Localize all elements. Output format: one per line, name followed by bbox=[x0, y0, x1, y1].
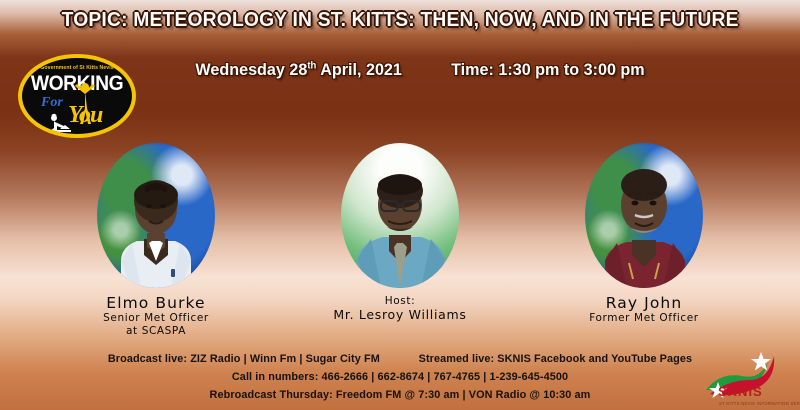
event-poster: TOPIC: METEOROLOGY IN ST. KITTS: THEN, N… bbox=[0, 0, 800, 410]
poster-title-text: TOPIC: METEOROLOGY IN ST. KITTS: THEN, N… bbox=[61, 8, 738, 32]
event-datetime: Wednesday 28th April, 2021 Time: 1:30 pm… bbox=[150, 60, 690, 80]
panelist-row: Elmo Burke Senior Met Officer at SCASPA bbox=[0, 143, 800, 338]
event-date-suffix: April, 2021 bbox=[317, 60, 403, 79]
host-label: Host: bbox=[385, 295, 415, 307]
event-date-prefix: Wednesday 28 bbox=[196, 60, 308, 79]
sknis-logo: SKNIS ST KITTS NEVIS INFORMATION SERVICE bbox=[698, 346, 794, 408]
construction-worker-icon bbox=[46, 112, 72, 132]
panelist-elmo-burke: Elmo Burke Senior Met Officer at SCASPA bbox=[34, 143, 278, 338]
streamed-live-text: Streamed live: SKNIS Facebook and YouTub… bbox=[419, 353, 693, 365]
portrait-lesroy-williams bbox=[341, 143, 459, 288]
portrait-ray-john bbox=[585, 143, 703, 288]
host-name: Mr. Lesroy Williams bbox=[333, 307, 466, 322]
panelist-role-line1: Former Met Officer bbox=[589, 312, 698, 325]
rebroadcast-text: Rebroadcast Thursday: Freedom FM @ 7:30 … bbox=[12, 386, 788, 404]
footer-broadcast-row: Broadcast live: ZIZ Radio | Winn Fm | Su… bbox=[12, 350, 788, 368]
panelist-photo bbox=[585, 143, 703, 288]
sknis-tagline: ST KITTS NEVIS INFORMATION SERVICE bbox=[719, 401, 800, 406]
event-time: Time: 1:30 pm to 3:00 pm bbox=[451, 60, 645, 80]
broadcast-live-text: Broadcast live: ZIZ Radio | Winn Fm | Su… bbox=[108, 353, 380, 365]
panelist-role-line2: at SCASPA bbox=[126, 325, 186, 338]
working-for-you-logo: Government of St Kitts Nevis WORKING For… bbox=[18, 54, 136, 138]
panelist-name: Ray John bbox=[606, 295, 683, 312]
panelist-role-line1: Senior Met Officer bbox=[103, 312, 209, 325]
call-in-numbers-text: Call in numbers: 466-2666 | 662-8674 | 7… bbox=[12, 368, 788, 386]
event-date: Wednesday 28th April, 2021 bbox=[196, 60, 402, 80]
panelist-photo bbox=[341, 143, 459, 288]
portrait-elmo-burke bbox=[97, 143, 215, 288]
person-raising-arms-icon bbox=[74, 82, 96, 124]
sknis-name: SKNIS bbox=[718, 384, 763, 399]
panelist-lesroy-williams: Host: Mr. Lesroy Williams bbox=[278, 143, 522, 322]
poster-title: TOPIC: METEOROLOGY IN ST. KITTS: THEN, N… bbox=[0, 8, 800, 32]
footer-info: Broadcast live: ZIZ Radio | Winn Fm | Su… bbox=[0, 350, 800, 404]
panelist-photo bbox=[97, 143, 215, 288]
panelist-name: Elmo Burke bbox=[106, 295, 205, 312]
panelist-ray-john: Ray John Former Met Officer bbox=[522, 143, 766, 325]
logo-for-text: For bbox=[41, 95, 63, 111]
government-label: Government of St Kitts Nevis bbox=[22, 65, 132, 71]
